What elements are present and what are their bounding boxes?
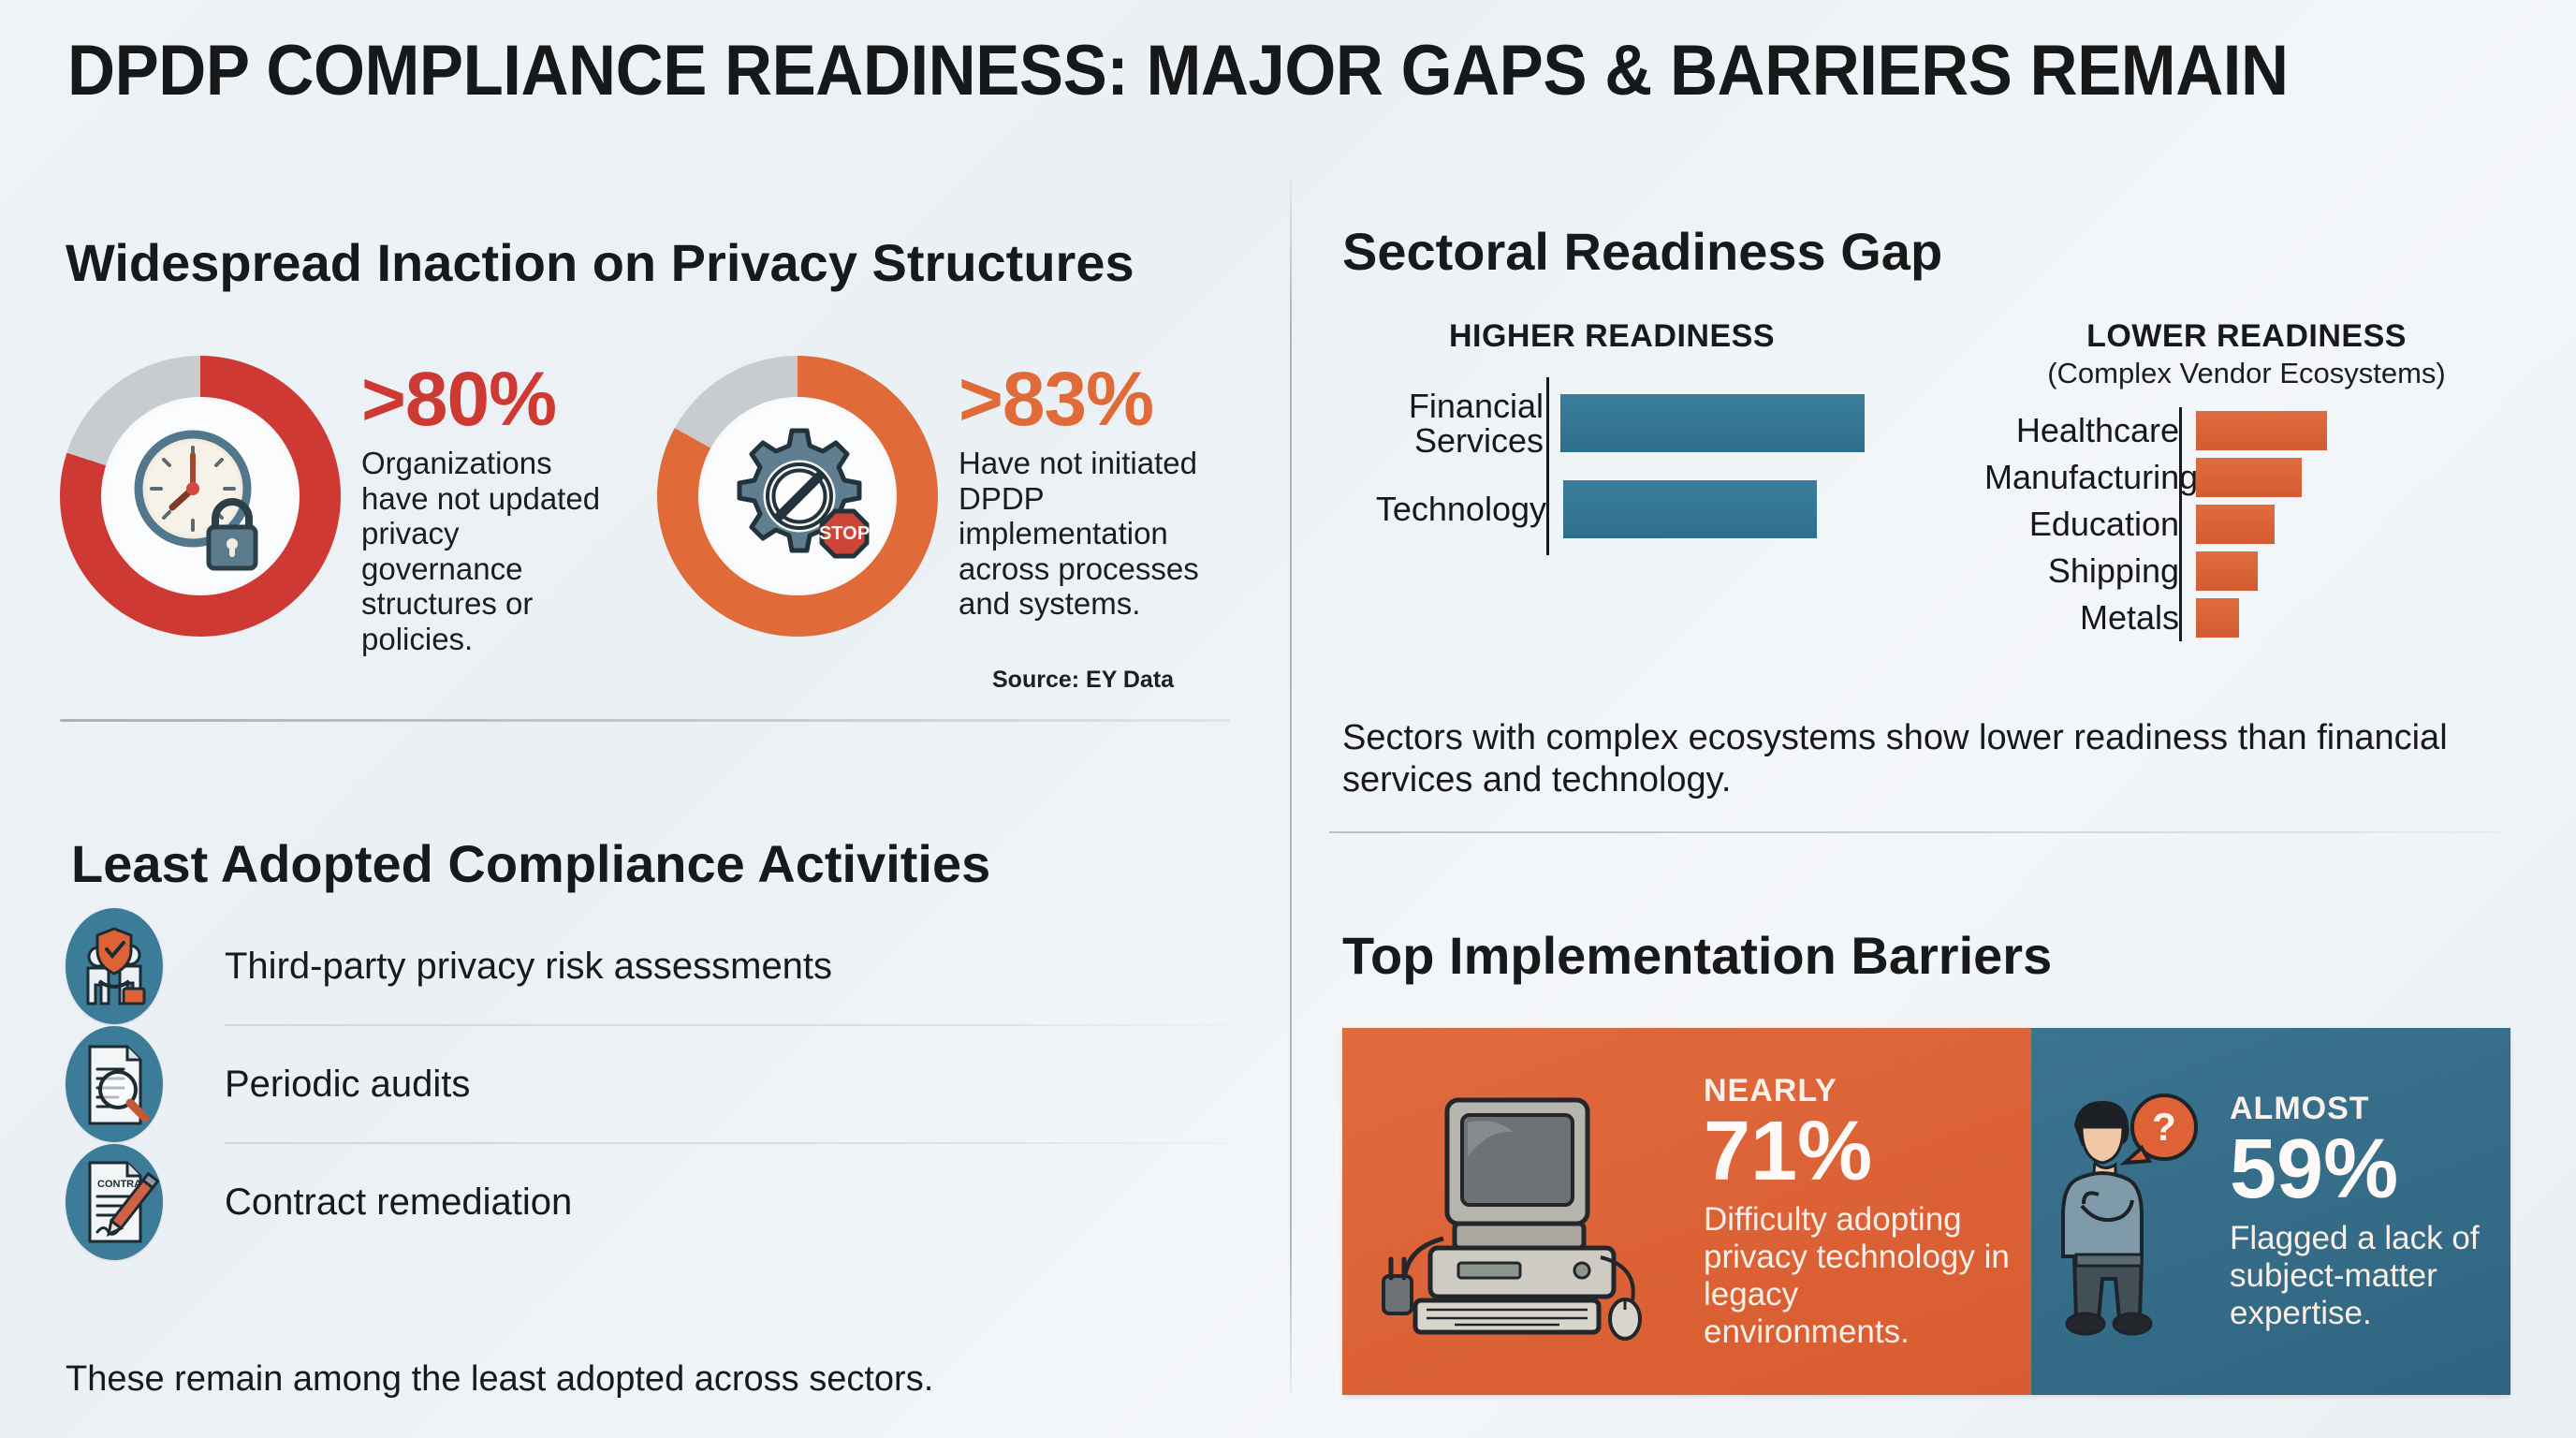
- stat-value-83: >83%: [959, 363, 1230, 436]
- donut-chart-83: STOP: [657, 356, 938, 637]
- sectoral-heading: Sectoral Readiness Gap: [1342, 221, 1942, 282]
- bar-education: [2196, 505, 2275, 544]
- bar-shipping: [2196, 551, 2258, 591]
- bar-label: Manufacturing: [1984, 460, 2196, 494]
- barrier-kicker-71: NEARLY: [1704, 1073, 2012, 1109]
- barriers-panels: NEARLY 71% Difficulty adopting privacy t…: [1342, 1028, 2510, 1395]
- bar-row: Education: [1984, 505, 2509, 544]
- lower-readiness-chart: LOWER READINESS (Complex Vendor Ecosyste…: [1984, 318, 2509, 641]
- barrier-copy-59: ALMOST 59% Flagged a lack of subject-mat…: [2230, 1091, 2503, 1331]
- stat-text-80: >80% Organizations have not updated priv…: [341, 356, 614, 657]
- left-horizontal-divider: [60, 719, 1230, 722]
- barrier-card-59[interactable]: ? ALMOST 59% Flagged a lack of subject-m…: [2031, 1028, 2510, 1395]
- barrier-value-59: 59%: [2230, 1129, 2503, 1210]
- bar-healthcare: [2196, 411, 2327, 450]
- svg-text:?: ?: [2152, 1105, 2176, 1149]
- thinking-person-question-icon: ?: [2041, 1069, 2218, 1355]
- handshake-shield-icon: [66, 908, 163, 1024]
- bar-metals: [2196, 598, 2239, 638]
- barrier-description-59: Flagged a lack of subject-matter experti…: [2230, 1220, 2503, 1332]
- list-item[interactable]: Periodic audits: [66, 1026, 1226, 1142]
- sectoral-note: Sectors with complex ecosystems show low…: [1342, 717, 2494, 801]
- bar-row: Manufacturing: [1984, 458, 2509, 497]
- contract-pen-icon: CONTRACT: [66, 1144, 163, 1260]
- list-item[interactable]: Third-party privacy risk assessments: [66, 908, 1226, 1024]
- source-label: Source: EY Data: [992, 667, 1174, 694]
- bar-financial-services: [1560, 394, 1865, 452]
- list-item-label: Third-party privacy risk assessments: [225, 946, 832, 988]
- svg-text:STOP: STOP: [819, 523, 870, 544]
- higher-readiness-title: HIGHER READINESS: [1359, 318, 1865, 355]
- list-item-label: Contract remediation: [225, 1181, 572, 1224]
- bar-label-text: Financial Services: [1409, 387, 1544, 460]
- bar-label: Financial Services: [1359, 389, 1560, 459]
- barrier-description-71: Difficulty adopting privacy technology i…: [1704, 1201, 2012, 1351]
- privacy-stats-row: >80% Organizations have not updated priv…: [60, 356, 1230, 657]
- bar-row: Technology: [1359, 480, 1865, 538]
- bar-label-text: Technology: [1376, 490, 1546, 528]
- bar-row: Shipping: [1984, 551, 2509, 591]
- barrier-card-71[interactable]: NEARLY 71% Difficulty adopting privacy t…: [1342, 1028, 2031, 1395]
- privacy-structures-heading: Widespread Inaction on Privacy Structure…: [66, 232, 1134, 293]
- bar-label: Shipping: [1984, 553, 2196, 588]
- bar-row: Financial Services: [1359, 394, 1865, 452]
- bar-technology: [1563, 480, 1817, 538]
- list-item[interactable]: CONTRACT Contract remediation: [66, 1144, 1226, 1260]
- barrier-value-71: 71%: [1704, 1111, 2012, 1192]
- bar-label-text: Healthcare: [2016, 411, 2179, 449]
- barriers-heading: Top Implementation Barriers: [1342, 925, 2052, 986]
- legacy-computer-icon: [1365, 1074, 1683, 1350]
- stat-description-80: Organizations have not updated privacy g…: [361, 446, 614, 657]
- stat-block-83: STOP >83% Have not initiated DPDP implem…: [657, 356, 1230, 657]
- lower-readiness-bars: Healthcare Manufacturing Education Shipp…: [1984, 407, 2509, 641]
- right-horizontal-divider: [1329, 831, 2499, 833]
- activities-footnote: These remain among the least adopted acr…: [66, 1359, 933, 1400]
- page-title: DPDP COMPLIANCE READINESS: MAJOR GAPS & …: [67, 30, 2349, 111]
- bar-row: Metals: [1984, 598, 2509, 638]
- bar-label-text: Education: [2029, 505, 2179, 543]
- bar-label: Technology: [1359, 492, 1563, 526]
- gear-stop-icon: STOP: [715, 414, 880, 579]
- bar-label: Metals: [1984, 600, 2196, 635]
- lower-readiness-title: LOWER READINESS: [1984, 318, 2509, 355]
- lower-readiness-subtitle: (Complex Vendor Ecosystems): [1984, 357, 2509, 390]
- stat-text-83: >83% Have not initiated DPDP implementat…: [938, 356, 1230, 622]
- bar-label: Education: [1984, 506, 2196, 541]
- stat-value-80: >80%: [361, 363, 614, 436]
- higher-readiness-chart: HIGHER READINESS Financial Services Tech…: [1359, 318, 1939, 555]
- stat-description-83: Have not initiated DPDP implementation a…: [959, 446, 1230, 622]
- bar-row: Healthcare: [1984, 411, 2509, 450]
- infographic-canvas: DPDP COMPLIANCE READINESS: MAJOR GAPS & …: [0, 0, 2576, 1438]
- document-magnifier-icon: [66, 1026, 163, 1142]
- activities-heading: Least Adopted Compliance Activities: [71, 833, 990, 894]
- barrier-copy-71: NEARLY 71% Difficulty adopting privacy t…: [1704, 1073, 2012, 1351]
- donut-chart-80: [60, 356, 341, 637]
- bar-label-text: Manufacturing: [1984, 458, 2198, 496]
- clock-lock-icon: [118, 414, 283, 579]
- stat-block-80: >80% Organizations have not updated priv…: [60, 356, 614, 657]
- list-item-label: Periodic audits: [225, 1064, 470, 1106]
- vertical-divider: [1290, 178, 1292, 1395]
- bar-label-text: Shipping: [2048, 551, 2179, 590]
- bar-label-text: Metals: [2080, 598, 2179, 637]
- higher-readiness-bars: Financial Services Technology: [1359, 377, 1939, 555]
- bar-manufacturing: [2196, 458, 2302, 497]
- bar-label: Healthcare: [1984, 413, 2196, 448]
- activities-list: Third-party privacy risk assessments Per: [66, 908, 1226, 1260]
